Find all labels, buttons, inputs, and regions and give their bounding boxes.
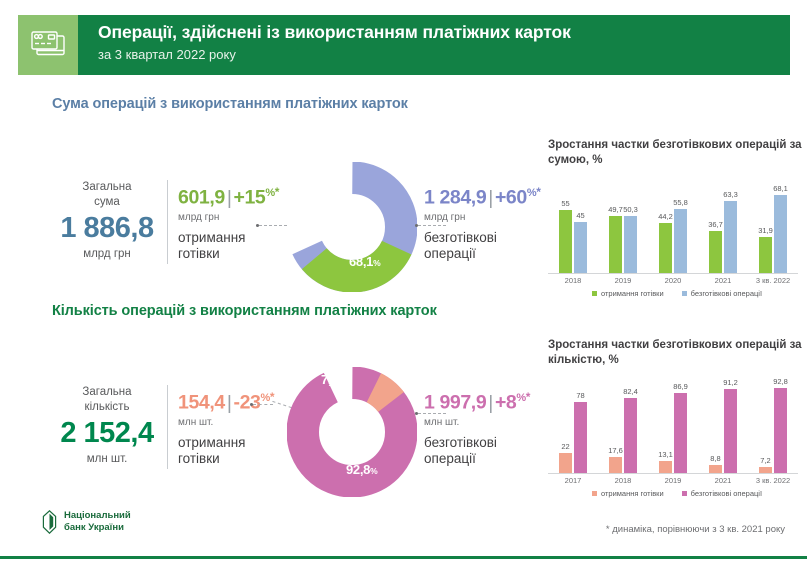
bar-value-label: 31,9 bbox=[758, 226, 773, 235]
stat-sum-cashless-main: 1 284,9|+60%* bbox=[424, 186, 544, 208]
bar-отримання-готівки: 17,6 bbox=[609, 457, 622, 473]
footer-rule bbox=[0, 556, 807, 559]
bar-безготівкові-операції: 45 bbox=[574, 222, 587, 274]
nbu-logo-line-1: Національний bbox=[64, 510, 131, 521]
bar-value-label: 50,3 bbox=[623, 205, 638, 214]
bar-безготівкові-операції: 92,8 bbox=[774, 388, 787, 473]
stat-sum-cash-value: 601,9 bbox=[178, 187, 225, 209]
bar-group: 17,682,4 bbox=[609, 398, 637, 474]
stat-count-cash-desc-1: отримання bbox=[178, 435, 245, 450]
total-count-unit: млн шт. bbox=[48, 453, 166, 465]
stat-sum-cash-pct: % bbox=[265, 187, 274, 199]
stat-count-cash-desc-2: готівки bbox=[178, 451, 220, 466]
stat-sum-cashless-sep: | bbox=[486, 187, 495, 209]
donut-count-label-cashless: 92,8% bbox=[346, 462, 377, 477]
page-header: Операції, здійснені із використанням пла… bbox=[18, 15, 790, 75]
legend-label: отримання готівки bbox=[601, 489, 664, 498]
stat-count-cash-desc: отримання готівки bbox=[178, 435, 286, 468]
stat-sum-cash-desc-1: отримання bbox=[178, 230, 245, 245]
stat-count-cashless-delta: +8 bbox=[495, 392, 516, 414]
total-count-label-2: кількість bbox=[48, 400, 166, 415]
bar-group: 8,891,2 bbox=[709, 389, 737, 473]
bar-value-label: 44,2 bbox=[658, 212, 673, 221]
donut-count: 7,2% 92,8% bbox=[287, 367, 417, 497]
leader-dot-sum-left bbox=[256, 224, 259, 227]
bar-value-label: 55,8 bbox=[673, 198, 688, 207]
chart-share-by-sum-legend: отримання готівкибезготівкові операції bbox=[548, 289, 806, 298]
chart-share-by-count: Зростання частки безготівкових операцій … bbox=[548, 338, 806, 498]
bar-отримання-готівки: 44,2 bbox=[659, 223, 672, 274]
stat-count-cash-value: 154,4 bbox=[178, 392, 225, 414]
stat-sum-cash-desc: отримання готівки bbox=[178, 230, 286, 263]
stat-sum-cashless-unit: млрд грн bbox=[424, 212, 544, 223]
bar-group: 5545 bbox=[559, 210, 587, 273]
divider-count bbox=[167, 385, 168, 469]
bar-безготівкові-операції: 82,4 bbox=[624, 398, 637, 474]
x-axis-tick: 2018 bbox=[615, 476, 632, 485]
legend-label: безготівкові операції bbox=[691, 489, 762, 498]
stat-count-cash: 154,4|-23%* млн шт. отримання готівки bbox=[178, 391, 286, 468]
x-axis-tick: 2021 bbox=[715, 476, 732, 485]
leader-line-count-left-2 bbox=[253, 404, 273, 405]
stat-sum-cashless-pct: % bbox=[527, 187, 536, 199]
legend-item: безготівкові операції bbox=[682, 489, 762, 498]
stat-sum-cashless-delta: +60 bbox=[495, 187, 527, 209]
bar-value-label: 82,4 bbox=[623, 387, 638, 396]
total-count-value: 2 152,4 bbox=[48, 419, 166, 448]
stat-sum-cashless-desc-2: операції bbox=[424, 246, 476, 261]
x-axis-tick: 2019 bbox=[615, 276, 632, 285]
stat-count-cashless-desc-1: безготівкові bbox=[424, 435, 497, 450]
bar-безготівкові-операції: 68,1 bbox=[774, 195, 787, 273]
bar-group: 49,750,3 bbox=[609, 216, 637, 274]
chart-share-by-count-xaxis: 20172018201920213 кв. 2022 bbox=[548, 474, 798, 487]
chart-share-by-count-plot: 227817,682,413,186,98,891,27,292,8 bbox=[548, 382, 798, 474]
section-sum: Сума операцій з використанням платіжних … bbox=[0, 96, 807, 112]
bar-value-label: 78 bbox=[576, 391, 584, 400]
x-axis-tick: 2017 bbox=[565, 476, 582, 485]
total-sum-label-1: Загальна bbox=[48, 180, 166, 195]
leader-dot-count-left bbox=[250, 403, 253, 406]
stat-count-cashless: 1 997,9|+8%* млн шт. безготівкові операц… bbox=[424, 391, 544, 468]
leader-dot-sum-right bbox=[415, 224, 418, 227]
legend-label: отримання готівки bbox=[601, 289, 664, 298]
legend-item: отримання готівки bbox=[592, 289, 664, 298]
chart-share-by-sum-plot: 554549,750,344,255,836,763,331,968,1 bbox=[548, 182, 798, 274]
footnote: * динаміка, порівнюючи з 3 кв. 2021 року bbox=[606, 524, 785, 535]
stat-sum-cash-star: * bbox=[275, 185, 279, 199]
donut-sum-label-cash: 31,9% bbox=[309, 188, 340, 203]
stat-count-cashless-desc-2: операції bbox=[424, 451, 476, 466]
bar-group: 13,186,9 bbox=[659, 393, 687, 473]
stat-count-cashless-pct: % bbox=[516, 392, 525, 404]
bar-отримання-готівки: 36,7 bbox=[709, 231, 722, 273]
stat-count-cashless-desc: безготівкові операції bbox=[424, 435, 544, 468]
bar-value-label: 17,6 bbox=[608, 446, 623, 455]
bar-value-label: 91,2 bbox=[723, 378, 738, 387]
legend-swatch bbox=[592, 491, 597, 496]
stat-sum-cashless-desc: безготівкові операції bbox=[424, 230, 544, 263]
stat-sum-cashless-value: 1 284,9 bbox=[424, 187, 486, 209]
donut-count-label-cash: 7,2% bbox=[321, 372, 345, 387]
total-sum-block: Загальна сума 1 886,8 млрд грн bbox=[48, 180, 166, 260]
bar-value-label: 55 bbox=[561, 199, 569, 208]
bar-value-label: 36,7 bbox=[708, 220, 723, 229]
x-axis-tick: 2018 bbox=[565, 276, 582, 285]
bar-value-label: 45 bbox=[576, 211, 584, 220]
divider-sum bbox=[167, 180, 168, 264]
payment-card-icon bbox=[18, 15, 78, 75]
bar-group: 36,763,3 bbox=[709, 201, 737, 274]
nbu-logo-line-2: банк України bbox=[64, 522, 124, 533]
bar-value-label: 22 bbox=[561, 442, 569, 451]
donut-sum-svg bbox=[287, 162, 417, 292]
legend-swatch bbox=[592, 291, 597, 296]
stat-count-cashless-unit: млн шт. bbox=[424, 417, 544, 428]
bar-безготівкові-операції: 78 bbox=[574, 402, 587, 474]
donut-count-svg bbox=[287, 367, 417, 497]
bar-безготівкові-операції: 50,3 bbox=[624, 216, 637, 274]
chart-share-by-count-title: Зростання частки безготівкових операцій … bbox=[548, 338, 806, 368]
stat-sum-cashless: 1 284,9|+60%* млрд грн безготівкові опер… bbox=[424, 186, 544, 263]
stat-count-cashless-value: 1 997,9 bbox=[424, 392, 486, 414]
bar-group: 44,255,8 bbox=[659, 209, 687, 273]
stat-count-cash-delta: -23 bbox=[233, 392, 260, 414]
nbu-logo: Національний банк України bbox=[42, 510, 131, 534]
chart-share-by-sum: Зростання частки безготівкових операцій … bbox=[548, 138, 806, 298]
stat-count-cashless-star: * bbox=[526, 390, 530, 404]
stat-count-cash-main: 154,4|-23%* bbox=[178, 391, 286, 413]
legend-item: отримання готівки bbox=[592, 489, 664, 498]
bar-value-label: 8,8 bbox=[710, 454, 720, 463]
stat-sum-cash-delta: +15 bbox=[233, 187, 265, 209]
donut-sum-label-cashless: 68,1% bbox=[349, 254, 380, 269]
x-axis-tick: 2021 bbox=[715, 276, 732, 285]
total-sum-value: 1 886,8 bbox=[48, 214, 166, 243]
bar-отримання-готівки: 7,2 bbox=[759, 467, 772, 474]
chart-share-by-sum-xaxis: 20182019202020213 кв. 2022 bbox=[548, 274, 798, 287]
bar-отримання-готівки: 13,1 bbox=[659, 461, 672, 473]
bar-отримання-готівки: 31,9 bbox=[759, 237, 772, 274]
total-count-label-1: Загальна bbox=[48, 385, 166, 400]
page-subtitle: за 3 квартал 2022 року bbox=[98, 47, 790, 62]
leader-dot-count-right bbox=[415, 412, 418, 415]
x-axis-tick: 3 кв. 2022 bbox=[756, 276, 790, 285]
stat-count-cash-unit: млн шт. bbox=[178, 417, 286, 428]
total-count-block: Загальна кількість 2 152,4 млн шт. bbox=[48, 385, 166, 465]
section-title-count: Кількість операцій з використанням платі… bbox=[0, 303, 807, 319]
stat-count-cashless-main: 1 997,9|+8%* bbox=[424, 391, 544, 413]
bar-value-label: 63,3 bbox=[723, 190, 738, 199]
bar-value-label: 49,7 bbox=[608, 205, 623, 214]
bar-безготівкові-операції: 55,8 bbox=[674, 209, 687, 273]
legend-swatch bbox=[682, 291, 687, 296]
legend-item: безготівкові операції bbox=[682, 289, 762, 298]
chart-share-by-sum-title: Зростання частки безготівкових операцій … bbox=[548, 138, 806, 168]
bar-group: 31,968,1 bbox=[759, 195, 787, 273]
bar-безготівкові-операції: 86,9 bbox=[674, 393, 687, 473]
bar-безготівкові-операції: 91,2 bbox=[724, 389, 737, 473]
bar-отримання-готівки: 22 bbox=[559, 453, 572, 473]
bar-безготівкові-операції: 63,3 bbox=[724, 201, 737, 274]
bar-group: 7,292,8 bbox=[759, 388, 787, 473]
chart-share-by-count-legend: отримання готівкибезготівкові операції bbox=[548, 489, 806, 498]
bar-отримання-готівки: 49,7 bbox=[609, 216, 622, 273]
stat-sum-cashless-star: * bbox=[536, 185, 540, 199]
x-axis-tick: 3 кв. 2022 bbox=[756, 476, 790, 485]
x-axis-tick: 2019 bbox=[665, 476, 682, 485]
nbu-logo-text: Національний банк України bbox=[64, 510, 131, 534]
page-title: Операції, здійснені із використанням пла… bbox=[98, 22, 790, 44]
stat-count-cash-pct: % bbox=[260, 392, 269, 404]
legend-label: безготівкові операції bbox=[691, 289, 762, 298]
leader-line-sum-left bbox=[259, 225, 287, 226]
bar-group: 2278 bbox=[559, 402, 587, 474]
infographic-page: Операції, здійснені із використанням пла… bbox=[0, 0, 807, 565]
total-sum-unit: млрд грн bbox=[48, 248, 166, 260]
stat-sum-cashless-desc-1: безготівкові bbox=[424, 230, 497, 245]
bar-value-label: 7,2 bbox=[760, 456, 770, 465]
bar-value-label: 92,8 bbox=[773, 377, 788, 386]
bar-value-label: 13,1 bbox=[658, 450, 673, 459]
bar-отримання-готівки: 55 bbox=[559, 210, 572, 273]
stat-sum-cash-main: 601,9|+15%* bbox=[178, 186, 286, 208]
total-sum-label-2: сума bbox=[48, 195, 166, 210]
bar-value-label: 68,1 bbox=[773, 184, 788, 193]
bar-value-label: 86,9 bbox=[673, 382, 688, 391]
stat-count-cashless-sep: | bbox=[486, 392, 495, 414]
section-count: Кількість операцій з використанням платі… bbox=[0, 303, 807, 319]
x-axis-tick: 2020 bbox=[665, 276, 682, 285]
bar-отримання-готівки: 8,8 bbox=[709, 465, 722, 473]
legend-swatch bbox=[682, 491, 687, 496]
header-text: Операції, здійснені із використанням пла… bbox=[78, 15, 790, 75]
nbu-emblem-icon bbox=[42, 510, 57, 534]
donut-sum: 31,9% 68,1% bbox=[287, 162, 417, 292]
section-title-sum: Сума операцій з використанням платіжних … bbox=[0, 96, 807, 112]
stat-sum-cash-desc-2: готівки bbox=[178, 246, 220, 261]
stat-sum-cash-unit: млрд грн bbox=[178, 212, 286, 223]
